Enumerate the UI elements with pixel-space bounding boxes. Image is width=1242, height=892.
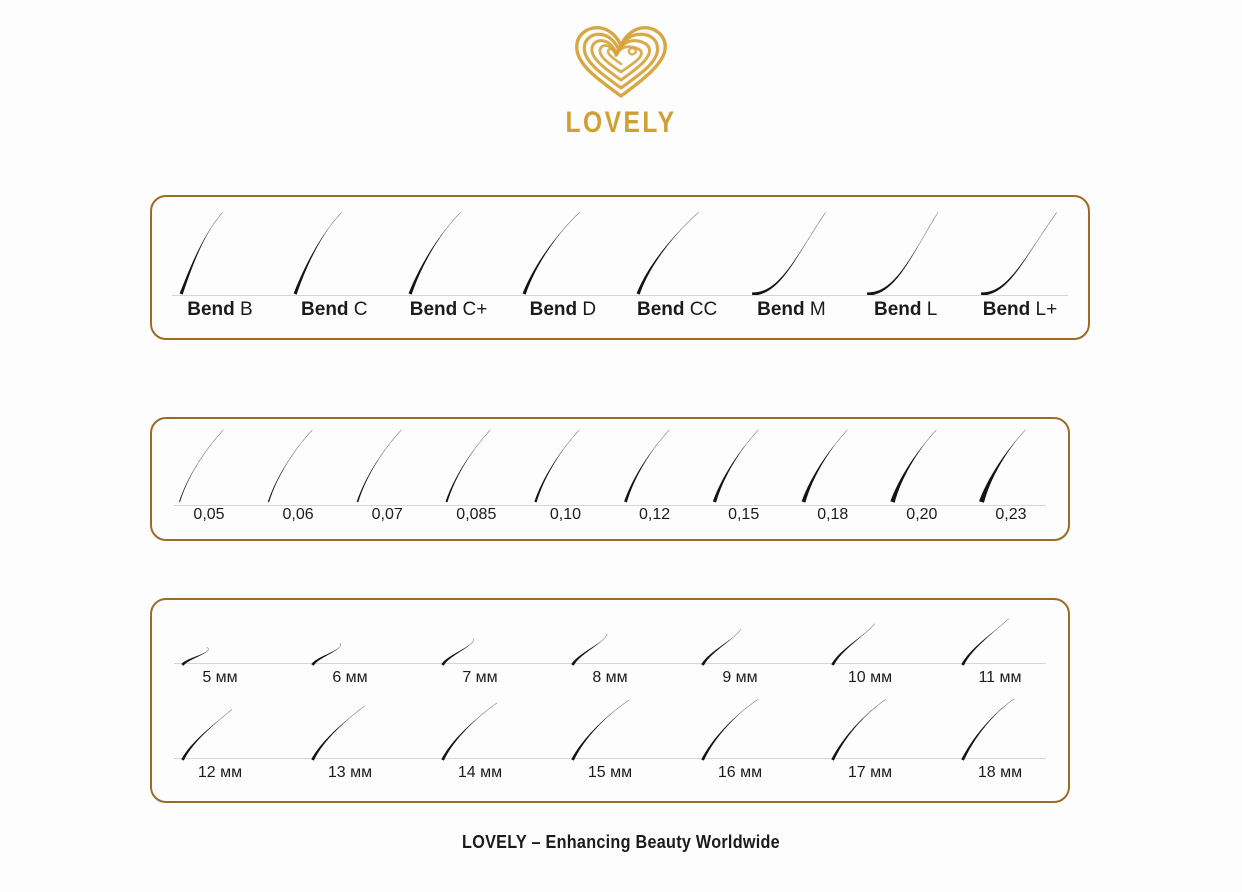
thickness-item[interactable]: 0,23 <box>970 427 1052 524</box>
bend-item[interactable]: Bend B <box>166 209 274 321</box>
length-item[interactable]: 15 мм <box>558 699 662 782</box>
length-item[interactable]: 16 мм <box>688 699 792 782</box>
length-item-label: 11 мм <box>948 669 1052 687</box>
bend-item[interactable]: Bend D <box>509 209 617 321</box>
bend-item[interactable]: Bend CC <box>623 209 731 321</box>
length-item[interactable]: 7 мм <box>428 604 532 687</box>
length-item[interactable]: 18 мм <box>948 699 1052 782</box>
lash-curve-icon <box>168 604 272 666</box>
length-item[interactable]: 14 мм <box>428 699 532 782</box>
length-item[interactable]: 10 мм <box>818 604 922 687</box>
thickness-item-label: 0,06 <box>257 506 339 524</box>
lash-curve-icon <box>792 427 874 503</box>
length-chart-panel: 5 мм6 мм7 мм8 мм9 мм10 мм11 мм 12 мм13 м… <box>150 598 1070 803</box>
bend-item[interactable]: Bend C+ <box>395 209 503 321</box>
bend-chart-panel: Bend BBend CBend C+Bend DBend CCBend MBe… <box>150 195 1090 340</box>
length-item[interactable]: 17 мм <box>818 699 922 782</box>
length-item[interactable]: 5 мм <box>168 604 272 687</box>
thickness-item-label: 0,18 <box>792 506 874 524</box>
brand-wordmark: LOVELY <box>112 108 1130 138</box>
thickness-items-row: 0,050,060,070,0850,100,120,150,180,200,2… <box>168 427 1052 524</box>
bend-item-prefix: Bend <box>757 299 805 320</box>
bend-item-caption: Bend B <box>166 299 274 321</box>
length-items-row-1: 5 мм6 мм7 мм8 мм9 мм10 мм11 мм <box>168 604 1052 687</box>
thickness-item[interactable]: 0,18 <box>792 427 874 524</box>
lash-curve-icon <box>818 604 922 666</box>
length-item[interactable]: 8 мм <box>558 604 662 687</box>
lash-curve-icon <box>688 604 792 666</box>
lash-curve-icon <box>970 427 1052 503</box>
lash-curve-icon <box>623 209 731 295</box>
bend-item[interactable]: Bend L <box>852 209 960 321</box>
bend-item[interactable]: Bend L+ <box>966 209 1074 321</box>
length-item[interactable]: 6 мм <box>298 604 402 687</box>
thickness-item[interactable]: 0,15 <box>703 427 785 524</box>
length-item[interactable]: 11 мм <box>948 604 1052 687</box>
length-item-label: 18 мм <box>948 764 1052 782</box>
length-item[interactable]: 12 мм <box>168 699 272 782</box>
thickness-item-label: 0,10 <box>524 506 606 524</box>
bend-item-value: L+ <box>1030 299 1057 320</box>
length-item-label: 6 мм <box>298 669 402 687</box>
bend-item-value: D <box>577 299 596 320</box>
bend-item-prefix: Bend <box>874 299 922 320</box>
lash-curve-icon <box>168 427 250 503</box>
lash-curve-icon <box>703 427 785 503</box>
lash-curve-icon <box>881 427 963 503</box>
bend-item[interactable]: Bend C <box>280 209 388 321</box>
length-item[interactable]: 13 мм <box>298 699 402 782</box>
thickness-item[interactable]: 0,20 <box>881 427 963 524</box>
brand-logo-block: LOVELY <box>0 22 1242 138</box>
bend-item-caption: Bend L+ <box>966 299 1074 321</box>
lash-curve-icon <box>346 427 428 503</box>
bend-item-prefix: Bend <box>187 299 235 320</box>
thickness-item[interactable]: 0,085 <box>435 427 517 524</box>
bend-item-prefix: Bend <box>637 299 685 320</box>
lash-curve-icon <box>395 209 503 295</box>
length-item-label: 14 мм <box>428 764 532 782</box>
lash-curve-icon <box>298 699 402 761</box>
bend-item-value: B <box>235 299 253 320</box>
lash-curve-icon <box>166 209 274 295</box>
bend-item-value: C+ <box>457 299 487 320</box>
length-item-label: 10 мм <box>818 669 922 687</box>
bend-item-prefix: Bend <box>530 299 578 320</box>
thickness-item-label: 0,05 <box>168 506 250 524</box>
bend-item-value: CC <box>685 299 718 320</box>
lash-curve-icon <box>509 209 617 295</box>
length-item-label: 12 мм <box>168 764 272 782</box>
bend-item-caption: Bend M <box>737 299 845 321</box>
lash-curve-icon <box>558 604 662 666</box>
thickness-item-label: 0,07 <box>346 506 428 524</box>
lash-curve-icon <box>298 604 402 666</box>
bend-item-value: C <box>349 299 368 320</box>
thickness-item-label: 0,085 <box>435 506 517 524</box>
thickness-item-label: 0,20 <box>881 506 963 524</box>
thickness-item-label: 0,15 <box>703 506 785 524</box>
bend-item-caption: Bend L <box>852 299 960 321</box>
lash-curve-icon <box>614 427 696 503</box>
length-item-label: 15 мм <box>558 764 662 782</box>
length-item-label: 17 мм <box>818 764 922 782</box>
lash-curve-icon <box>428 699 532 761</box>
length-item-label: 9 мм <box>688 669 792 687</box>
lash-curve-icon <box>435 427 517 503</box>
heart-lines-logo-icon <box>569 22 673 102</box>
length-item[interactable]: 9 мм <box>688 604 792 687</box>
length-item-label: 8 мм <box>558 669 662 687</box>
bend-item-prefix: Bend <box>301 299 349 320</box>
lash-curve-icon <box>948 699 1052 761</box>
thickness-item[interactable]: 0,12 <box>614 427 696 524</box>
bend-item-value: M <box>805 299 826 320</box>
length-item-label: 5 мм <box>168 669 272 687</box>
thickness-chart-panel: 0,050,060,070,0850,100,120,150,180,200,2… <box>150 417 1070 541</box>
bend-item[interactable]: Bend M <box>737 209 845 321</box>
thickness-item[interactable]: 0,07 <box>346 427 428 524</box>
lash-curve-icon <box>280 209 388 295</box>
lash-curve-icon <box>688 699 792 761</box>
bend-items-row: Bend BBend CBend C+Bend DBend CCBend MBe… <box>166 209 1074 321</box>
lash-curve-icon <box>737 209 845 295</box>
lash-curve-icon <box>257 427 339 503</box>
thickness-item[interactable]: 0,05 <box>168 427 250 524</box>
bend-item-caption: Bend CC <box>623 299 731 321</box>
length-item-label: 16 мм <box>688 764 792 782</box>
thickness-item-label: 0,12 <box>614 506 696 524</box>
thickness-item[interactable]: 0,10 <box>524 427 606 524</box>
footer-tagline: LOVELY – Enhancing Beauty Worldwide <box>62 832 1180 853</box>
length-item-label: 13 мм <box>298 764 402 782</box>
lash-curve-icon <box>168 699 272 761</box>
bend-item-caption: Bend C+ <box>395 299 503 321</box>
bend-item-value: L <box>922 299 938 320</box>
lash-curve-icon <box>818 699 922 761</box>
bend-item-prefix: Bend <box>410 299 458 320</box>
length-items-row-2: 12 мм13 мм14 мм15 мм16 мм17 мм18 мм <box>168 699 1052 782</box>
length-item-label: 7 мм <box>428 669 532 687</box>
bend-item-caption: Bend C <box>280 299 388 321</box>
bend-item-prefix: Bend <box>983 299 1031 320</box>
lash-curve-icon <box>966 209 1074 295</box>
bend-item-caption: Bend D <box>509 299 617 321</box>
lash-curve-icon <box>852 209 960 295</box>
lash-curve-icon <box>558 699 662 761</box>
lash-curve-icon <box>524 427 606 503</box>
thickness-item-label: 0,23 <box>970 506 1052 524</box>
thickness-item[interactable]: 0,06 <box>257 427 339 524</box>
lash-curve-icon <box>428 604 532 666</box>
lash-curve-icon <box>948 604 1052 666</box>
